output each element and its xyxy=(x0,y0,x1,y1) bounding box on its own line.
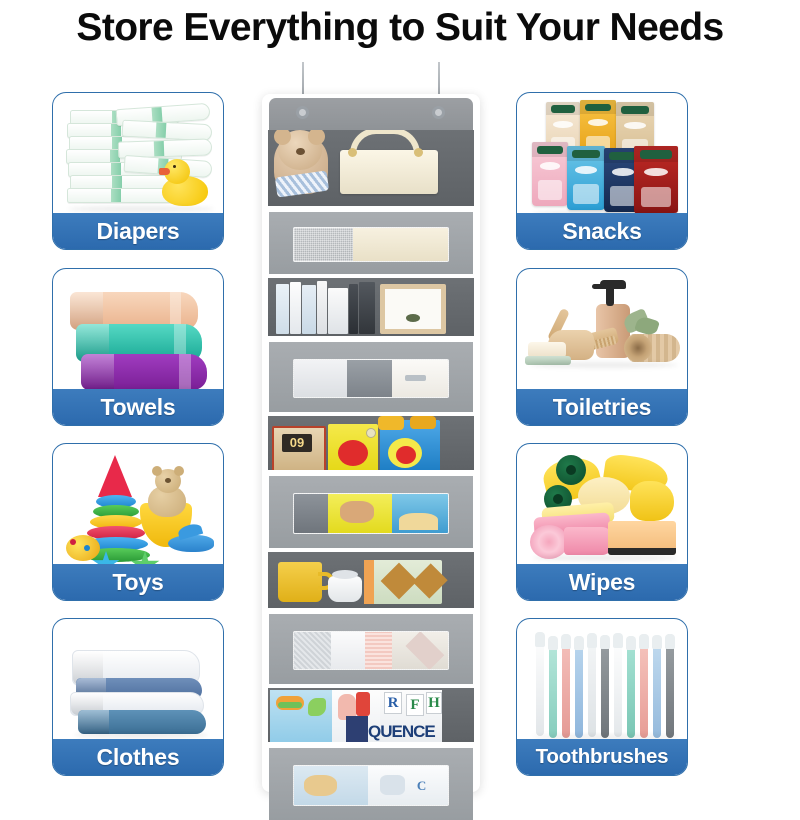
pocket-2 xyxy=(269,342,473,412)
pocket-1 xyxy=(269,212,473,274)
clothes-photo xyxy=(56,622,220,739)
feature-card-snacks[interactable]: Snacks xyxy=(516,92,688,250)
feature-card-label: Snacks xyxy=(517,213,687,249)
grommet-left xyxy=(296,106,309,119)
shelf-5: R F H QUENCE xyxy=(262,688,480,746)
towels-photo xyxy=(56,272,220,389)
snacks-photo xyxy=(520,96,684,213)
shelf-1 xyxy=(262,130,480,210)
shelf-2 xyxy=(262,278,480,340)
grommet-right xyxy=(432,106,445,119)
feature-card-label: Toiletries xyxy=(517,389,687,425)
toothbrushes-photo xyxy=(520,622,684,739)
feature-card-diapers[interactable]: Diapers xyxy=(52,92,224,250)
shelf-3: 09 xyxy=(262,416,480,474)
feature-card-label: Towels xyxy=(53,389,223,425)
feature-card-label: Clothes xyxy=(53,739,223,775)
feature-card-label: Diapers xyxy=(53,213,223,249)
wipes-photo xyxy=(520,447,684,564)
toys-photo xyxy=(56,447,220,564)
feature-card-toys[interactable]: Toys xyxy=(52,443,224,601)
feature-card-toothbrushes[interactable]: Toothbrushes xyxy=(516,618,688,776)
pocket-3 xyxy=(269,476,473,548)
feature-card-toiletries[interactable]: Toiletries xyxy=(516,268,688,426)
feature-card-label: Wipes xyxy=(517,564,687,600)
shelf-4 xyxy=(262,552,480,612)
pocket-4 xyxy=(269,614,473,684)
page-title: Store Everything to Suit Your Needs xyxy=(0,6,800,50)
feature-card-label: Toothbrushes xyxy=(517,739,687,775)
feature-card-towels[interactable]: Towels xyxy=(52,268,224,426)
organizer-frame: 09 xyxy=(262,94,480,792)
feature-card-clothes[interactable]: Clothes xyxy=(52,618,224,776)
diapers-photo xyxy=(56,96,220,213)
product-organizer[interactable]: 09 xyxy=(262,62,480,792)
pocket-5: C xyxy=(269,748,473,820)
feature-card-wipes[interactable]: Wipes xyxy=(516,443,688,601)
toiletries-photo xyxy=(520,272,684,389)
feature-card-label: Toys xyxy=(53,564,223,600)
